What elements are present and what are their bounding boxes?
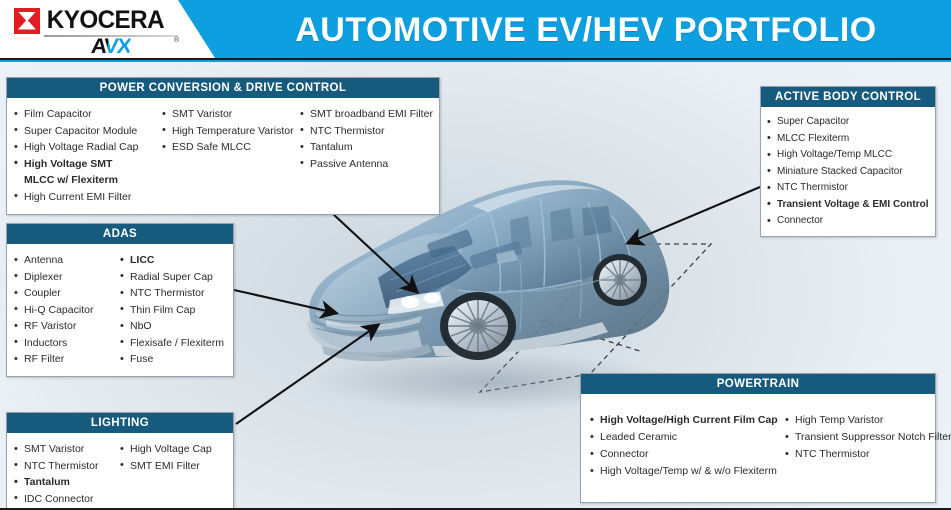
callout-title-adas: ADAS — [7, 224, 233, 245]
list-power-conversion-col3: SMT broadband EMI Filter NTC Thermistor … — [299, 106, 433, 172]
list-lighting-col1: SMT Varistor NTC Thermistor Tantalum IDC… — [13, 441, 119, 507]
registered-mark: ® — [174, 37, 179, 44]
list-item: LICC — [119, 252, 224, 269]
kyocera-avx-logo: KYOCERA AVX ® — [14, 4, 184, 56]
kyocera-wordmark: KYOCERA — [47, 6, 164, 35]
list-item: Hi-Q Capacitor — [13, 302, 119, 319]
list-item: Miniature Stacked Capacitor — [766, 164, 932, 181]
list-item: Diplexer — [13, 269, 119, 286]
list-item: Tantalum — [299, 139, 433, 156]
callout-title-power-conversion: POWER CONVERSION & DRIVE CONTROL — [7, 78, 439, 99]
page-header: AUTOMOTIVE EV/HEV PORTFOLIO KYOCERA AVX … — [0, 0, 951, 62]
list-item: Tantalum — [13, 474, 119, 491]
list-item: Transient Suppressor Notch Filter — [784, 429, 951, 446]
list-item: Super Capacitor Module — [13, 123, 161, 140]
callout-active-body-control: ACTIVE BODY CONTROL Super Capacitor MLCC… — [760, 86, 936, 237]
list-power-conversion-col1: Film Capacitor Super Capacitor Module Hi… — [13, 106, 161, 205]
list-item: SMT broadband EMI Filter — [299, 106, 433, 123]
list-item: Fuse — [119, 351, 224, 368]
list-item: High Voltage/Temp MLCC — [766, 147, 932, 164]
list-item: High Temp Varistor — [784, 412, 951, 429]
callout-title-powertrain: POWERTRAIN — [581, 374, 935, 395]
list-item: NTC Thermistor — [784, 446, 951, 463]
list-item: NbO — [119, 318, 224, 335]
list-item: Flexisafe / Flexiterm — [119, 335, 224, 352]
list-item: NTC Thermistor — [299, 123, 433, 140]
list-item: High Temperature Varistor — [161, 123, 299, 140]
list-active-body-control: Super Capacitor MLCC Flexiterm High Volt… — [766, 114, 932, 230]
infographic-page: AUTOMOTIVE EV/HEV PORTFOLIO KYOCERA AVX … — [0, 0, 951, 510]
list-item: High Voltage/Temp w/ & w/o Flexiterm — [589, 463, 784, 480]
list-adas-col1: Antenna Diplexer Coupler Hi-Q Capacitor … — [13, 252, 119, 368]
list-item: Super Capacitor — [766, 114, 932, 131]
list-item: High Voltage Cap — [119, 441, 212, 458]
list-item: Coupler — [13, 285, 119, 302]
list-adas-col2: LICC Radial Super Cap NTC Thermistor Thi… — [119, 252, 224, 368]
list-item: Thin Film Cap — [119, 302, 224, 319]
list-powertrain-col1: High Voltage/High Current Film Cap Leade… — [589, 412, 784, 480]
list-power-conversion-col2: SMT Varistor High Temperature Varistor E… — [161, 106, 299, 156]
list-item: RF Filter — [13, 351, 119, 368]
callout-power-conversion: POWER CONVERSION & DRIVE CONTROL Film Ca… — [6, 77, 440, 215]
kyocera-mark-icon — [14, 8, 40, 34]
list-item: High Voltage Radial Cap — [13, 139, 161, 156]
list-item: Passive Antenna — [299, 156, 433, 173]
list-item: Leaded Ceramic — [589, 429, 784, 446]
list-item: NTC Thermistor — [119, 285, 224, 302]
list-item: Connector — [766, 213, 932, 230]
list-item: Film Capacitor — [13, 106, 161, 123]
list-item: SMT Varistor — [161, 106, 299, 123]
callout-adas: ADAS Antenna Diplexer Coupler Hi-Q Capac… — [6, 223, 234, 377]
list-item: MLCC Flexiterm — [766, 131, 932, 148]
list-item: ESD Safe MLCC — [161, 139, 299, 156]
list-item: High Current EMI Filter — [13, 189, 161, 206]
list-item: High Voltage SMT MLCC w/ Flexiterm — [13, 156, 145, 189]
callout-lighting: LIGHTING SMT Varistor NTC Thermistor Tan… — [6, 412, 234, 510]
list-powertrain-col2: High Temp Varistor Transient Suppressor … — [784, 412, 951, 463]
callout-title-lighting: LIGHTING — [7, 413, 233, 434]
list-item: Radial Super Cap — [119, 269, 224, 286]
page-title: AUTOMOTIVE EV/HEV PORTFOLIO — [236, 6, 936, 54]
list-item: High Voltage/High Current Film Cap — [589, 412, 784, 429]
callout-powertrain: POWERTRAIN High Voltage/High Current Fil… — [580, 373, 936, 503]
list-item: IDC Connector — [13, 491, 119, 508]
list-item: RF Varistor — [13, 318, 119, 335]
list-lighting-col2: High Voltage Cap SMT EMI Filter — [119, 441, 212, 474]
list-item: Transient Voltage & EMI Control — [766, 197, 932, 214]
callout-title-active-body-control: ACTIVE BODY CONTROL — [761, 87, 935, 108]
list-item: Antenna — [13, 252, 119, 269]
list-item: Inductors — [13, 335, 119, 352]
list-item: NTC Thermistor — [766, 180, 932, 197]
avx-wordmark: AVX — [90, 35, 132, 59]
list-item: Connector — [589, 446, 784, 463]
list-item: SMT Varistor — [13, 441, 119, 458]
list-item: NTC Thermistor — [13, 458, 119, 475]
list-item: SMT EMI Filter — [119, 458, 212, 475]
header-rule-accent — [0, 60, 951, 62]
